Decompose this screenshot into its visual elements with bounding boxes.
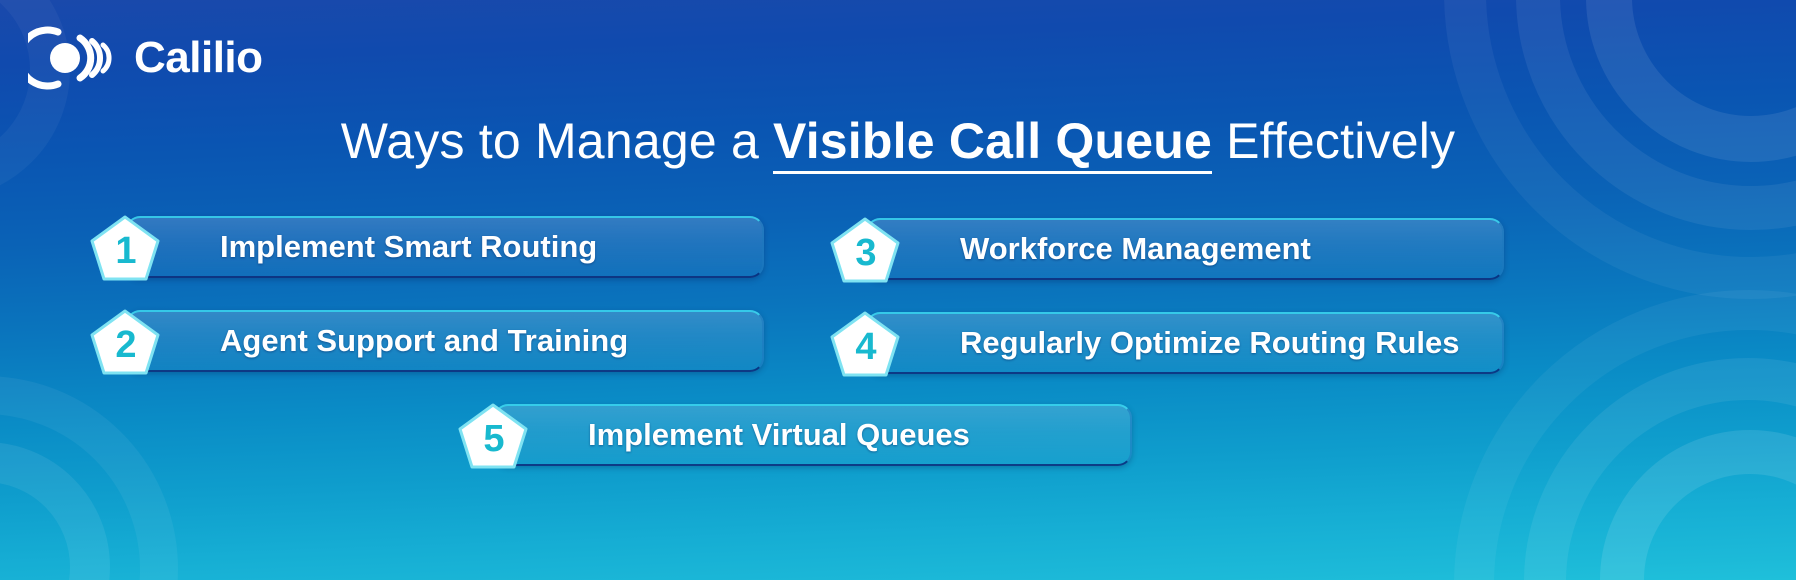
list-item[interactable]: 5 Implement Virtual Queues <box>494 404 1132 466</box>
item-number: 1 <box>115 232 136 270</box>
pentagon-number-badge: 2 <box>90 308 164 380</box>
pentagon-number-badge: 3 <box>830 216 904 288</box>
item-label: Regularly Optimize Routing Rules <box>960 325 1460 361</box>
item-label: Workforce Management <box>960 231 1311 267</box>
list-item[interactable]: 3 Workforce Management <box>866 218 1504 280</box>
pentagon-number-badge: 4 <box>830 310 904 382</box>
infographic-banner: Calilio Ways to Manage a Visible Call Qu… <box>0 0 1796 580</box>
pentagon-number-badge: 5 <box>458 402 532 474</box>
pentagon-number-badge: 1 <box>90 214 164 286</box>
item-number: 4 <box>855 328 876 366</box>
list-item[interactable]: 1 Implement Smart Routing <box>126 216 764 278</box>
item-number: 5 <box>483 420 504 458</box>
list-item[interactable]: 4 Regularly Optimize Routing Rules <box>866 312 1504 374</box>
tips-list: 1 Implement Smart Routing 2 Agent Suppor… <box>0 0 1796 580</box>
item-label: Implement Virtual Queues <box>588 417 970 453</box>
item-label: Implement Smart Routing <box>220 229 597 265</box>
item-number: 2 <box>115 326 136 364</box>
item-number: 3 <box>855 234 876 272</box>
list-item[interactable]: 2 Agent Support and Training <box>126 310 764 372</box>
item-label: Agent Support and Training <box>220 323 628 359</box>
